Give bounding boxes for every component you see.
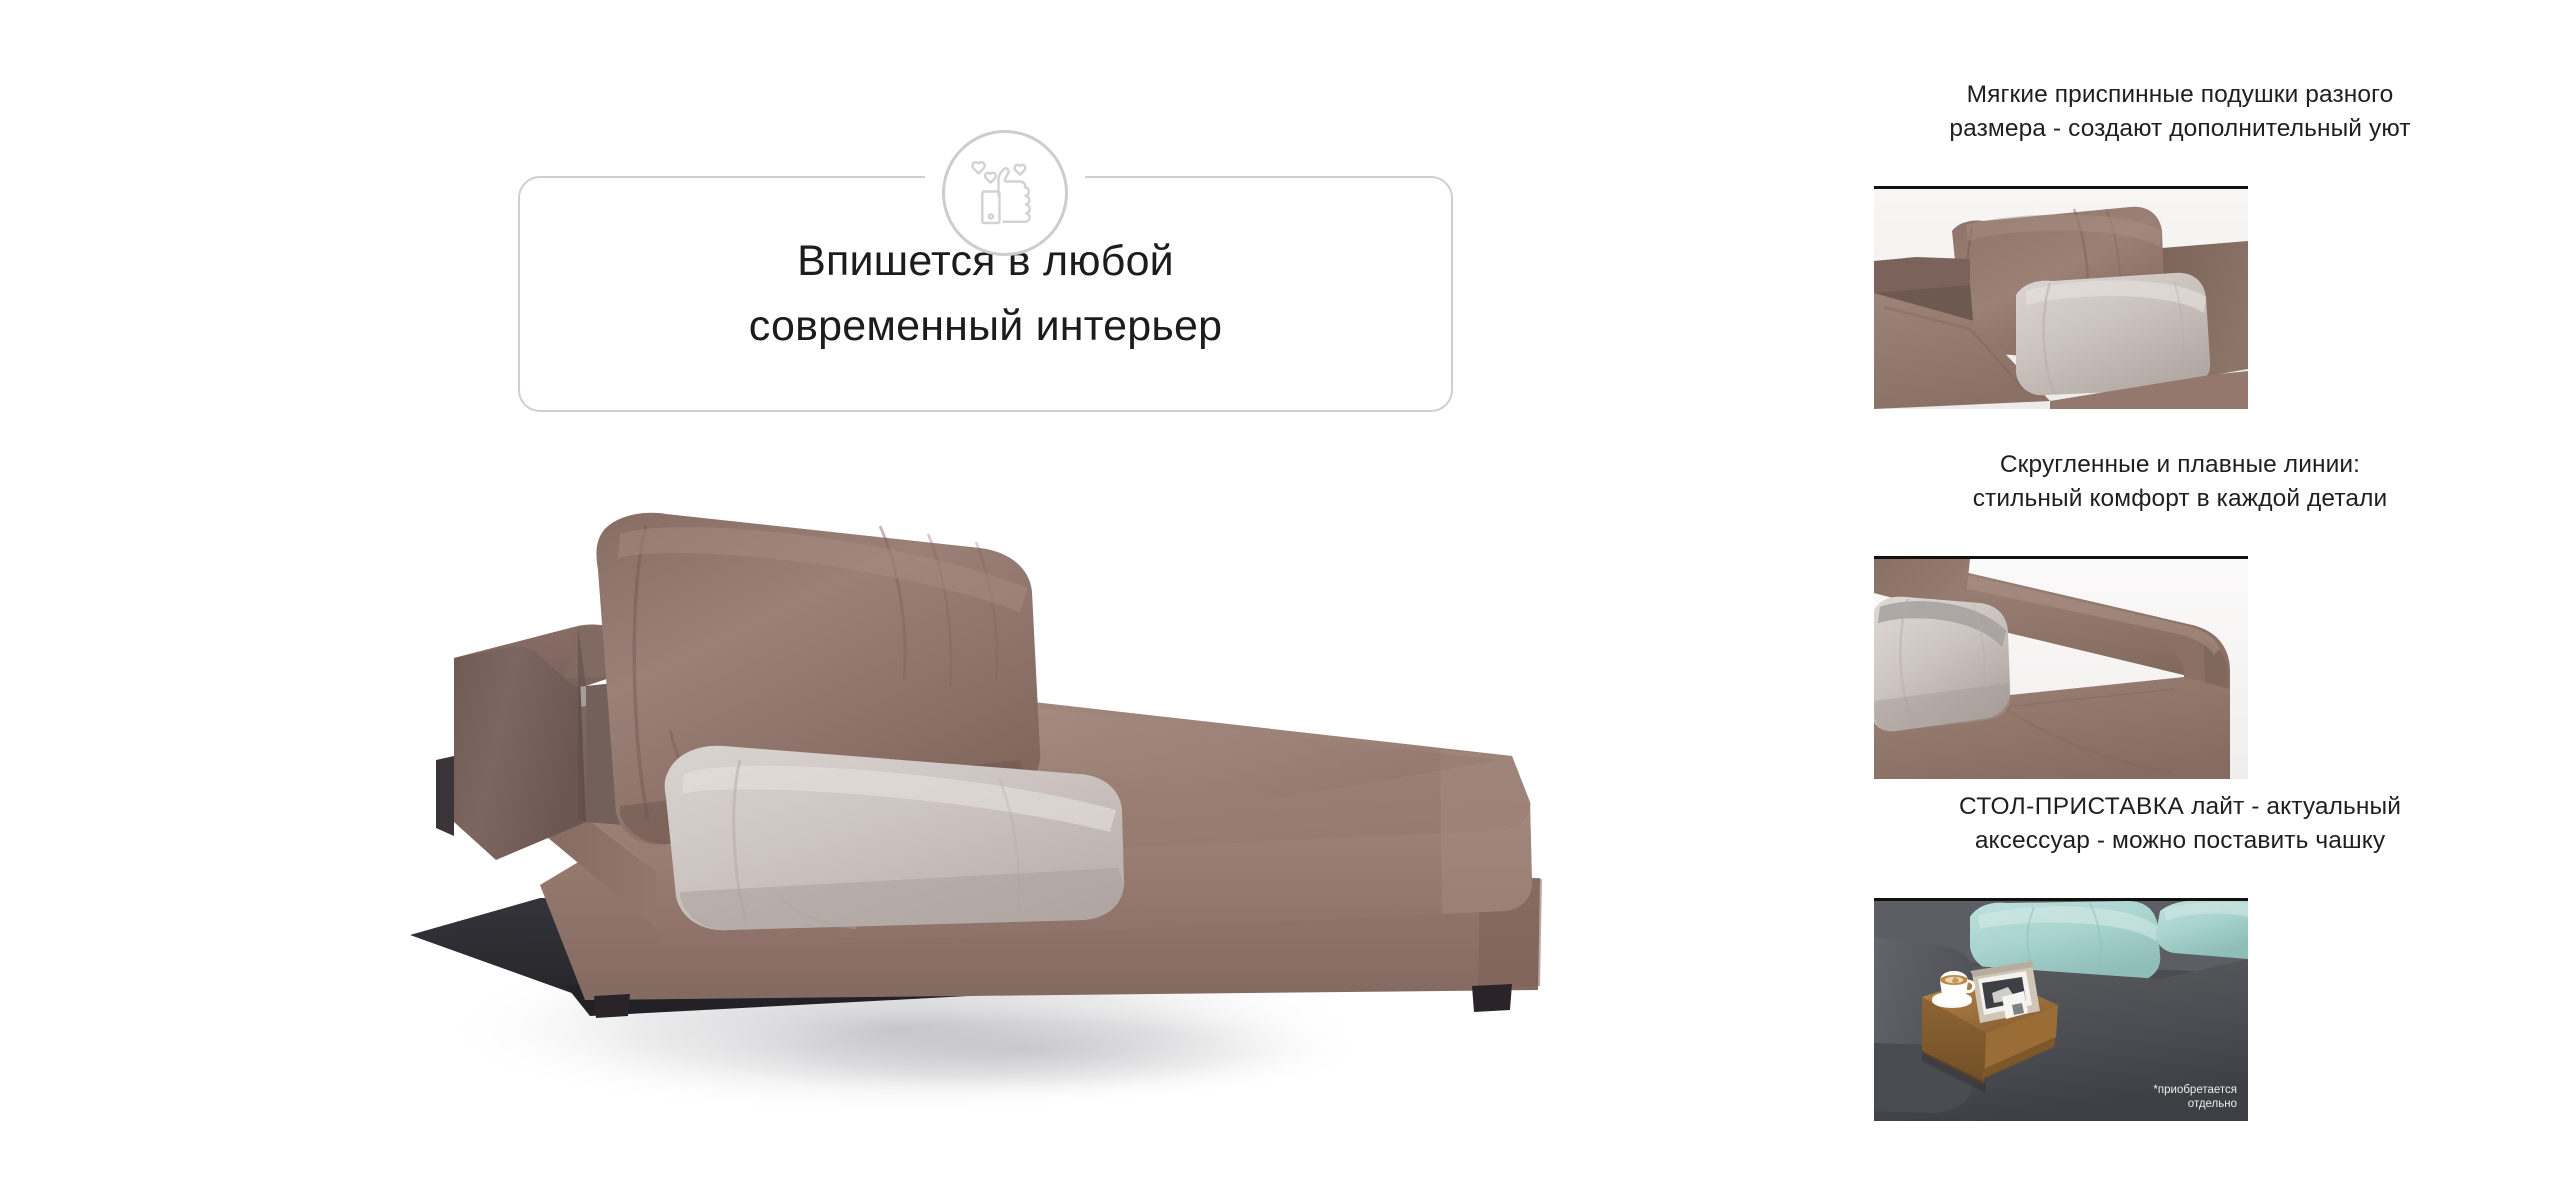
thumbs-up-hearts-icon [942,130,1068,256]
feature-caption-line-2: стильный комфорт в каждой детали [1800,482,2560,516]
feature-caption-rest: лайт - актуальный [2184,793,2401,820]
sofa-rounded-armrest-photo[interactable] [1874,559,2248,779]
feature-caption: СТОЛ-ПРИСТАВКА лайт - актуальный аксессу… [1800,790,2560,858]
feature-caption-line-1: Мягкие приспинные подушки разного [1800,78,2560,112]
feature-caption-emphasis: СТОЛ-ПРИСТАВКА [1959,793,2184,820]
feature-caption: Скругленные и плавные линии: стильный ко… [1800,448,2560,516]
feature-item: Скругленные и плавные линии: стильный ко… [1800,448,2560,516]
hero-panel: Впишется в любой современный интерьер [0,0,1800,1188]
feature-caption-line-2: аксессуар - можно поставить чашку [1800,824,2560,858]
note-line-1: *приобретается [2153,1083,2237,1098]
feature-thumbnail-wrap[interactable] [1874,556,2248,779]
headline-line-2: современный интерьер [749,301,1222,352]
feature-caption-line-1: СТОЛ-ПРИСТАВКА лайт - актуальный [1800,790,2560,824]
feature-caption-line-2: размера - создают дополнительный уют [1800,112,2560,146]
feature-thumbnail-wrap[interactable] [1874,186,2248,409]
feature-caption-line-1: Скругленные и плавные линии: [1800,448,2560,482]
feature-item: СТОЛ-ПРИСТАВКА лайт - актуальный аксессу… [1800,790,2560,858]
side-table-accessory-photo[interactable]: *приобретается отдельно [1874,901,2248,1121]
features-column: Мягкие приспинные подушки разного размер… [1800,0,2560,1188]
note-line-2: отдельно [2153,1097,2237,1112]
feature-item: Мягкие приспинные подушки разного размер… [1800,78,2560,146]
sold-separately-note: *приобретается отдельно [2153,1083,2237,1112]
feature-thumbnail-wrap[interactable]: *приобретается отдельно [1874,898,2248,1121]
sofa-back-cushions-photo[interactable] [1874,189,2248,409]
feature-caption: Мягкие приспинные подушки разного размер… [1800,78,2560,146]
sofa-chaise-module-photo [380,430,1560,1110]
